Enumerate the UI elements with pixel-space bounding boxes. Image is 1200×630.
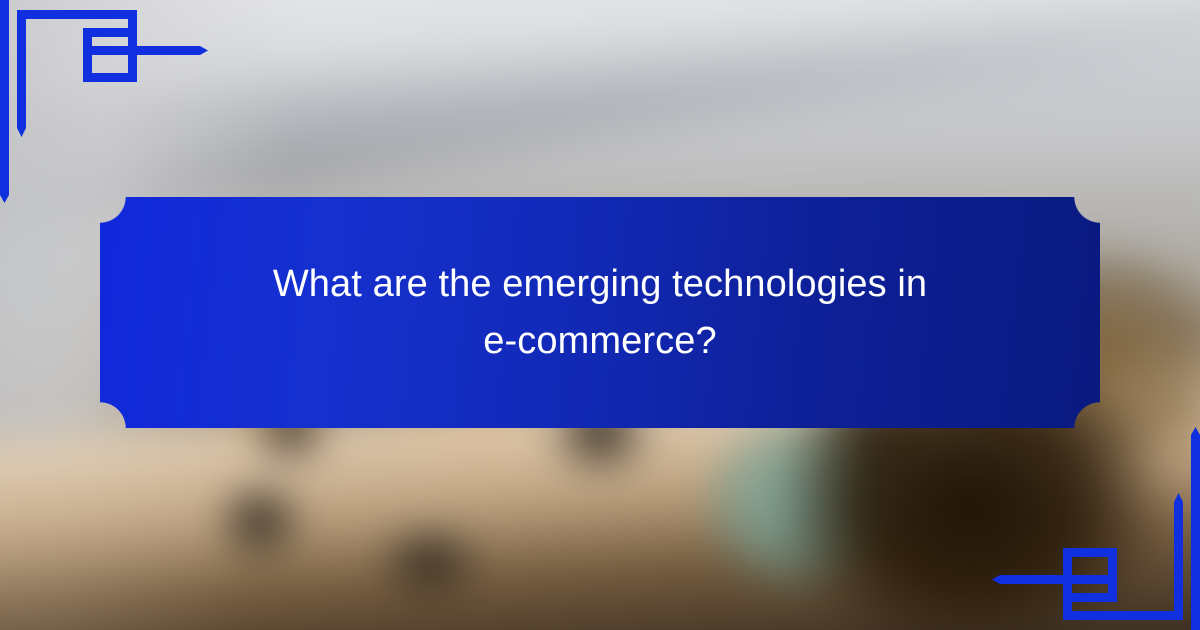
title-banner: What are the emerging technologies in e-… xyxy=(100,197,1100,428)
social-card: What are the emerging technologies in e-… xyxy=(0,0,1200,630)
page-title: What are the emerging technologies in e-… xyxy=(199,256,1001,368)
